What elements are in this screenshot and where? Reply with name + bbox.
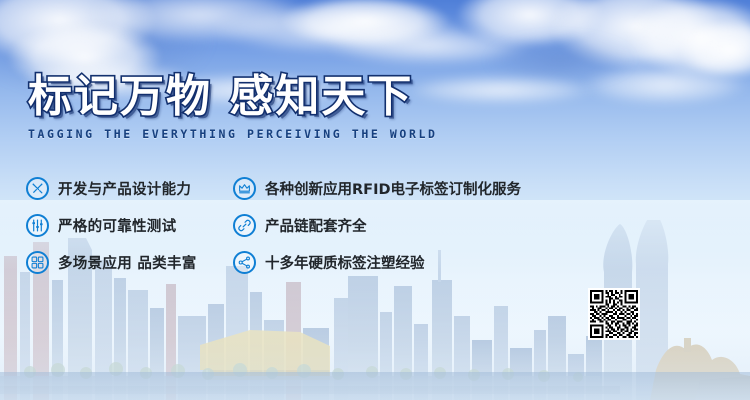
feature-item-product-chain[interactable]: 产品链配套齐全 — [233, 207, 521, 243]
qr-code[interactable] — [588, 288, 640, 340]
feature-label: 各种创新应用RFID电子标签订制化服务 — [265, 178, 521, 199]
feature-label: 开发与产品设计能力 — [58, 178, 191, 199]
feature-item-multi-scenario[interactable]: 多场景应用 品类丰富 — [26, 244, 197, 280]
feature-list-right: 各种创新应用RFID电子标签订制化服务 产品链配套齐全 — [233, 170, 521, 281]
promo-banner: 标记万物 感知天下 TAGGING THE EVERYTHING PERCEIV… — [0, 0, 750, 400]
link-icon — [233, 214, 256, 237]
feature-label: 多场景应用 品类丰富 — [58, 252, 197, 273]
qr-code-image — [590, 290, 638, 338]
feature-list-left: 开发与产品设计能力 严格的可靠性测试 — [26, 170, 197, 281]
feature-label: 产品链配套齐全 — [265, 215, 367, 236]
feature-item-rfid-customization[interactable]: 各种创新应用RFID电子标签订制化服务 — [233, 170, 521, 206]
grid-icon — [26, 251, 49, 274]
sliders-icon — [26, 214, 49, 237]
crown-icon — [233, 177, 256, 200]
waterfront — [0, 372, 750, 400]
feature-item-development[interactable]: 开发与产品设计能力 — [26, 170, 197, 206]
page-title: 标记万物 感知天下 — [28, 74, 448, 120]
page-subtitle: TAGGING THE EVERYTHING PERCEIVING THE WO… — [28, 127, 448, 141]
feature-label: 严格的可靠性测试 — [58, 215, 176, 236]
feature-label: 十多年硬质标签注塑经验 — [265, 252, 425, 273]
feature-item-reliability-test[interactable]: 严格的可靠性测试 — [26, 207, 197, 243]
share-icon — [233, 251, 256, 274]
title-block: 标记万物 感知天下 TAGGING THE EVERYTHING PERCEIV… — [28, 74, 448, 141]
tools-icon — [26, 177, 49, 200]
feature-item-molding-experience[interactable]: 十多年硬质标签注塑经验 — [233, 244, 521, 280]
